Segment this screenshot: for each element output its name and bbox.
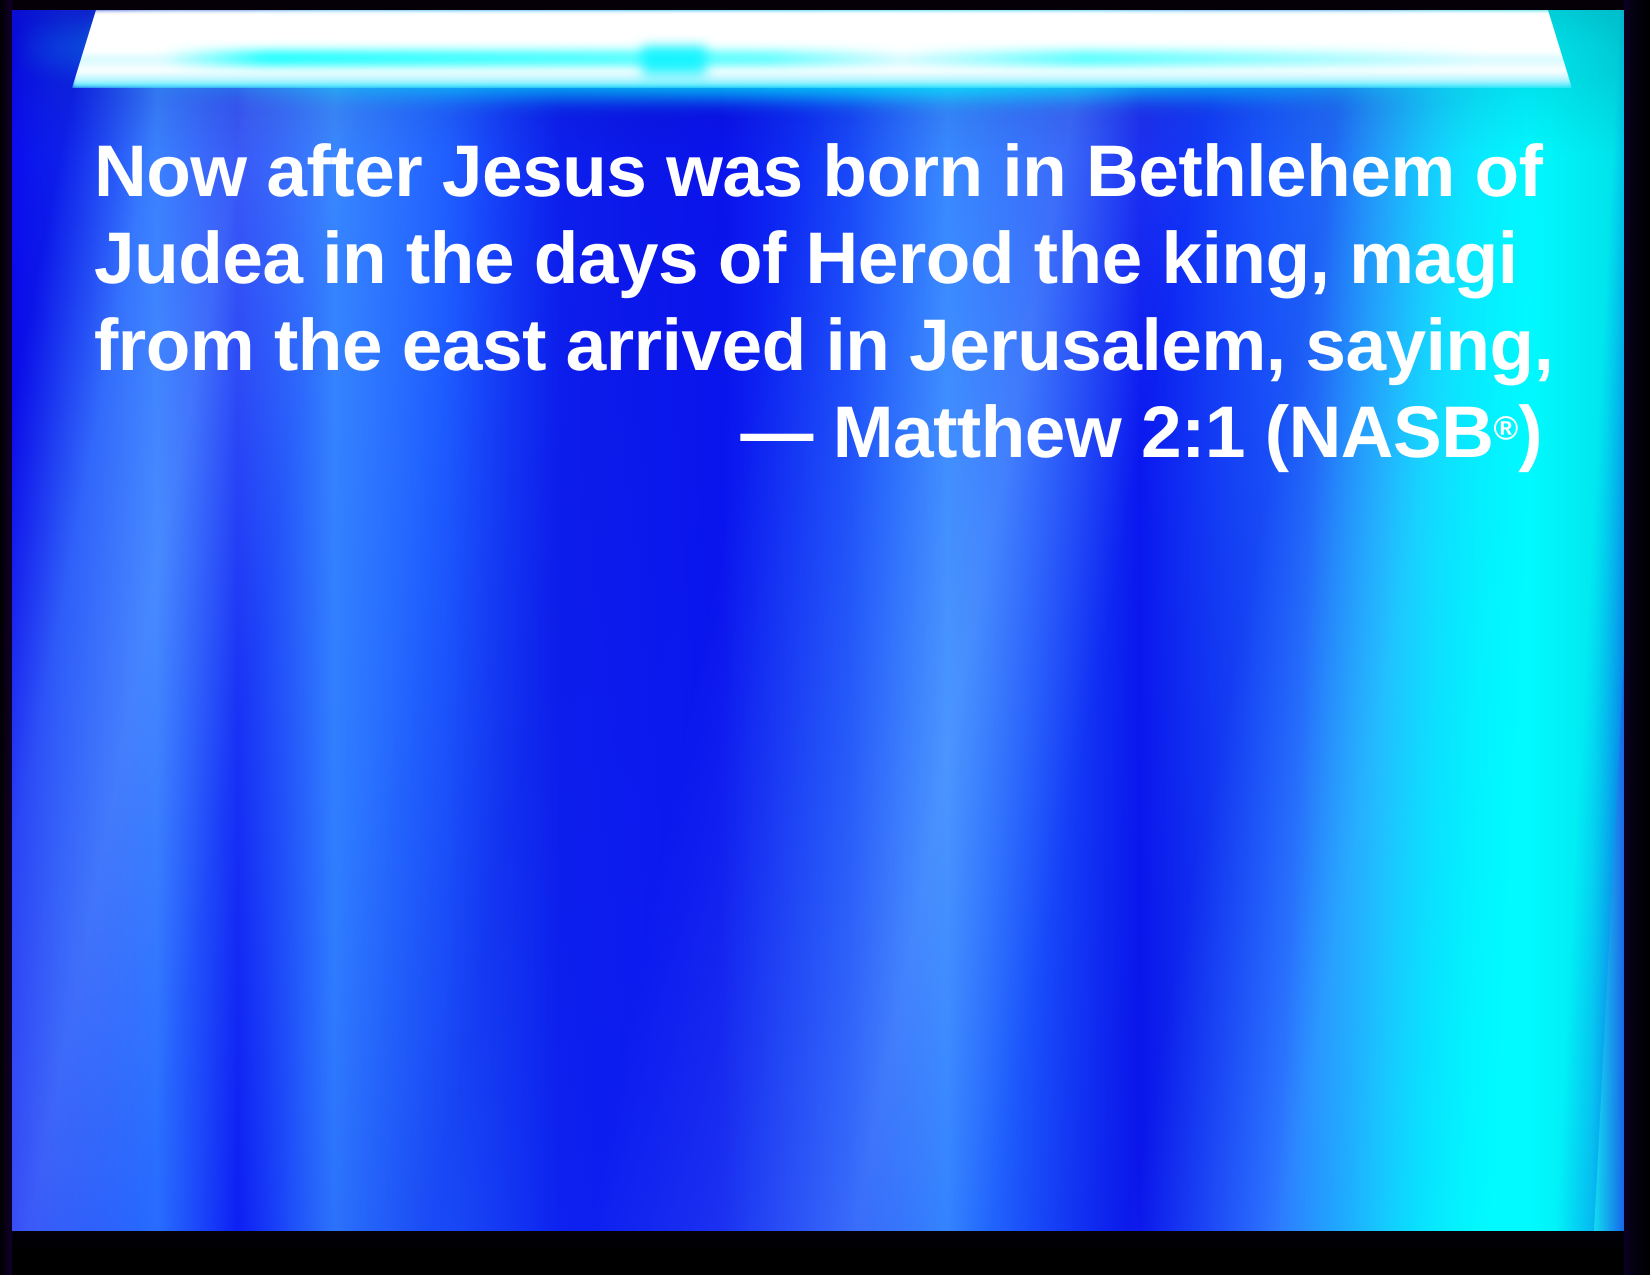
- banner-cyan-notch: [642, 46, 706, 76]
- frame-border-right: [1624, 0, 1650, 1275]
- verse-line-1: Now after Jesus was born in Bethlehem of: [94, 128, 1542, 215]
- banner-white-bar: [72, 10, 1572, 88]
- attribution-reference: Matthew 2:1: [833, 392, 1265, 473]
- frame-border-bottom: [0, 1231, 1650, 1275]
- attribution-open-paren: (: [1265, 392, 1289, 473]
- registered-trademark-icon: ®: [1493, 411, 1518, 448]
- slide-canvas: Now after Jesus was born in Bethlehem of…: [12, 10, 1624, 1231]
- scripture-slide: Now after Jesus was born in Bethlehem of…: [0, 0, 1650, 1275]
- attribution-translation: NASB: [1289, 392, 1494, 473]
- verse-text-block: Now after Jesus was born in Bethlehem of…: [94, 128, 1542, 476]
- verse-line-3: from the east arrived in Jerusalem, sayi…: [94, 302, 1542, 389]
- verse-line-2: Judea in the days of Herod the king, mag…: [94, 215, 1542, 302]
- top-light-banner: [72, 10, 1572, 90]
- verse-attribution: — Matthew 2:1 (NASB®): [94, 389, 1542, 476]
- attribution-close-paren: ): [1518, 392, 1542, 473]
- frame-border-top: [0, 0, 1650, 10]
- banner-cyan-streak: [162, 50, 1482, 66]
- attribution-dash: —: [740, 392, 832, 473]
- frame-border-left: [0, 0, 12, 1275]
